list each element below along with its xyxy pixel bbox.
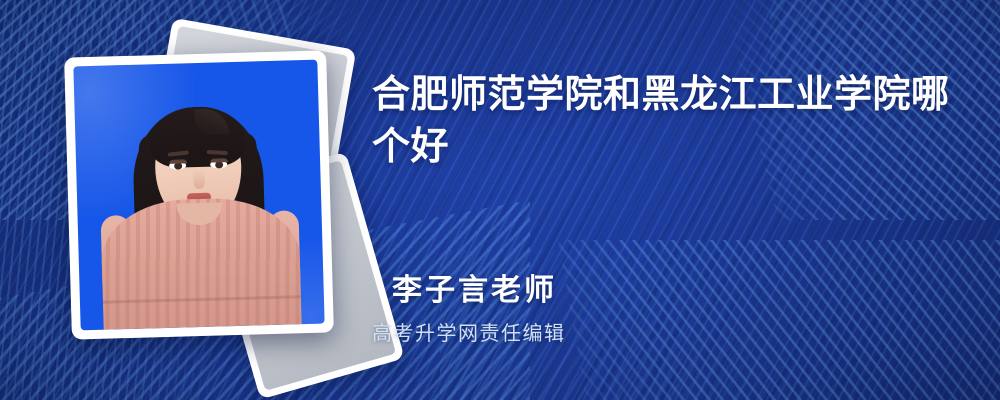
author-portrait-photo xyxy=(73,60,324,331)
promo-banner: 合肥师范学院和黑龙江工业学院哪个好 李子言老师 高考升学网责任编辑 xyxy=(0,0,1000,400)
headline-block: 合肥师范学院和黑龙江工业学院哪个好 xyxy=(372,70,952,173)
banner-title: 合肥师范学院和黑龙江工业学院哪个好 xyxy=(372,70,952,173)
portrait-nose xyxy=(193,169,205,189)
author-name: 李子言老师 xyxy=(392,272,952,310)
author-role: 高考升学网责任编辑 xyxy=(372,317,952,346)
byline-block: 李子言老师 高考升学网责任编辑 xyxy=(392,272,952,346)
portrait-figure xyxy=(73,60,324,331)
portrait-eyelid-right xyxy=(210,158,228,163)
portrait-dress xyxy=(100,196,301,329)
portrait-eyelid-left xyxy=(169,159,187,164)
photo-card-stack xyxy=(58,28,358,358)
photo-card-front xyxy=(64,50,334,339)
